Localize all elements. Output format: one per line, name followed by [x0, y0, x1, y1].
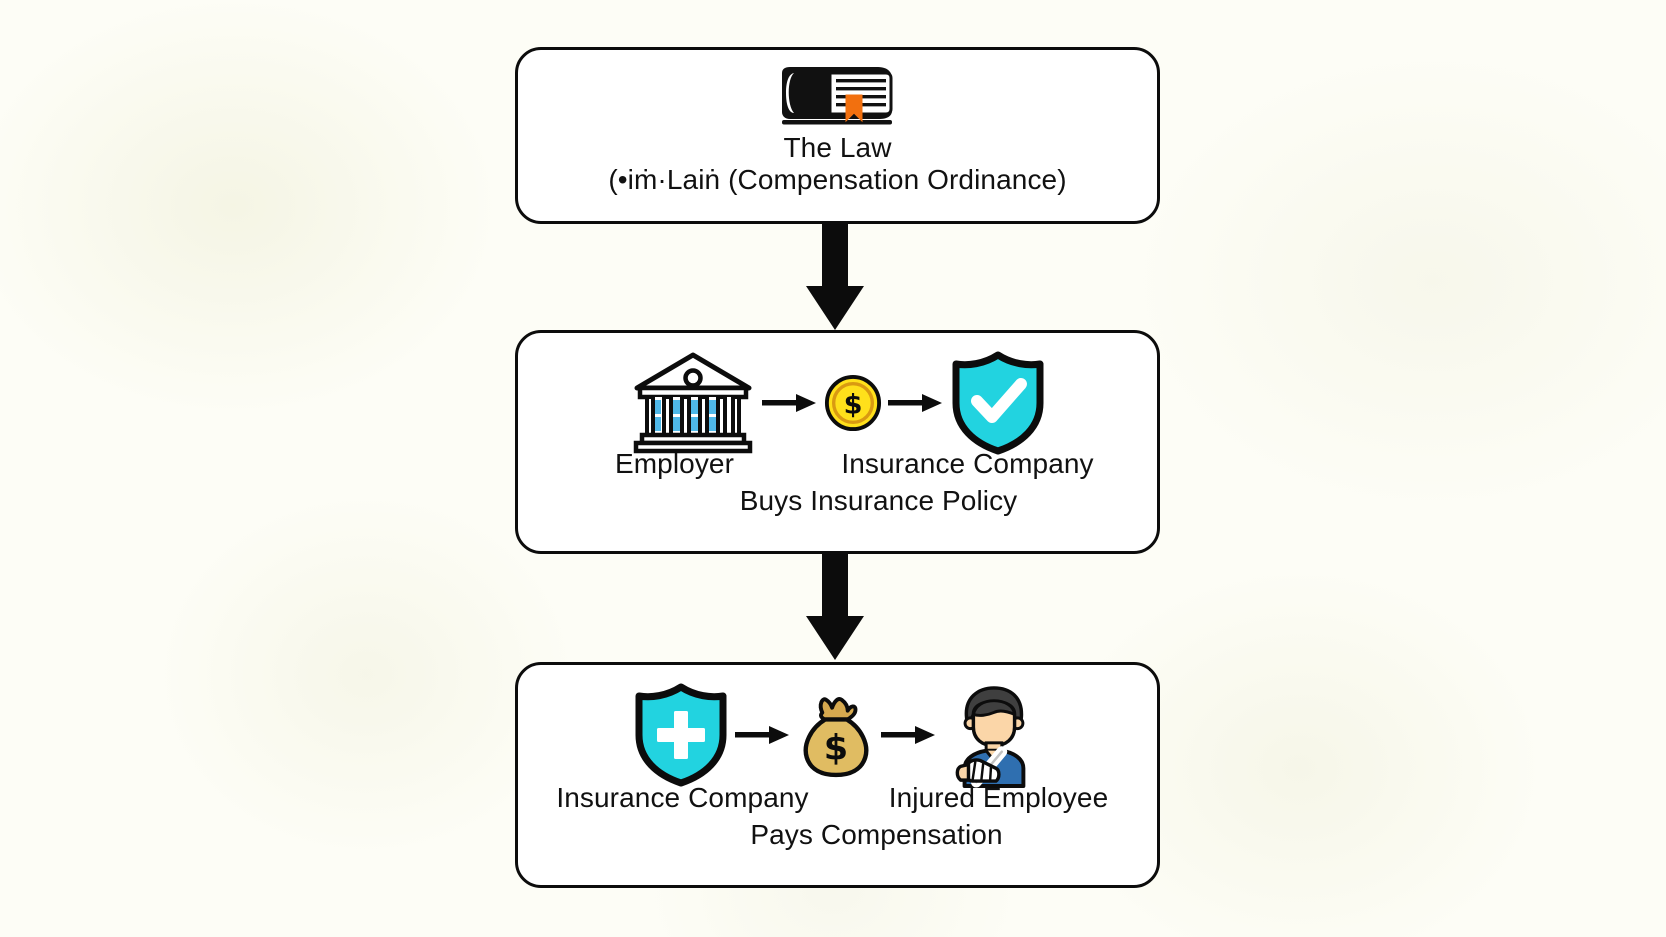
arrow-right-icon	[881, 722, 937, 748]
law-book-icon	[774, 65, 902, 127]
law-subtitle: (•iṁ·Laiṅ (Compensation Ordinance)	[608, 165, 1066, 196]
flow-row-buy: $	[518, 351, 1157, 455]
step-card-insurer-pays-employee[interactable]: $	[515, 662, 1160, 888]
shield-check-icon	[950, 351, 1046, 455]
label-injured-employee: Injured Employee	[855, 782, 1143, 814]
dollar-coin-icon: $	[824, 374, 882, 432]
sub-label-pays-compensation: Pays Compensation	[518, 819, 1157, 851]
label-insurance-company: Insurance Company	[823, 448, 1113, 480]
arrow-right-icon	[888, 390, 944, 416]
money-bag-icon: $	[797, 691, 875, 779]
flow-row-pay: $	[518, 683, 1157, 787]
flow-diagram: The Law (•iṁ·Laiṅ (Compensation Ordinanc…	[0, 0, 1666, 937]
bank-building-icon	[630, 350, 756, 456]
arrow-down-icon	[805, 554, 865, 662]
step-card-the-law[interactable]: The Law (•iṁ·Laiṅ (Compensation Ordinanc…	[515, 47, 1160, 224]
arrow-down-icon	[805, 224, 865, 332]
labels-row-pay: Insurance Company Injured Employee	[518, 782, 1157, 814]
step-card-employer-buys-insurance[interactable]: $ Employer Insurance Company	[515, 330, 1160, 554]
injured-employee-icon	[943, 684, 1043, 786]
svg-text:$: $	[843, 390, 862, 421]
labels-row-buy: Employer Insurance Company	[518, 448, 1157, 480]
arrow-right-icon	[735, 722, 791, 748]
law-title: The Law	[783, 133, 891, 163]
label-insurance-company: Insurance Company	[533, 782, 833, 814]
sub-label-buys-insurance-policy: Buys Insurance Policy	[518, 485, 1157, 517]
svg-text:$: $	[823, 727, 847, 768]
arrow-right-icon	[762, 390, 818, 416]
shield-plus-icon	[633, 683, 729, 787]
label-employer: Employer	[563, 448, 787, 480]
